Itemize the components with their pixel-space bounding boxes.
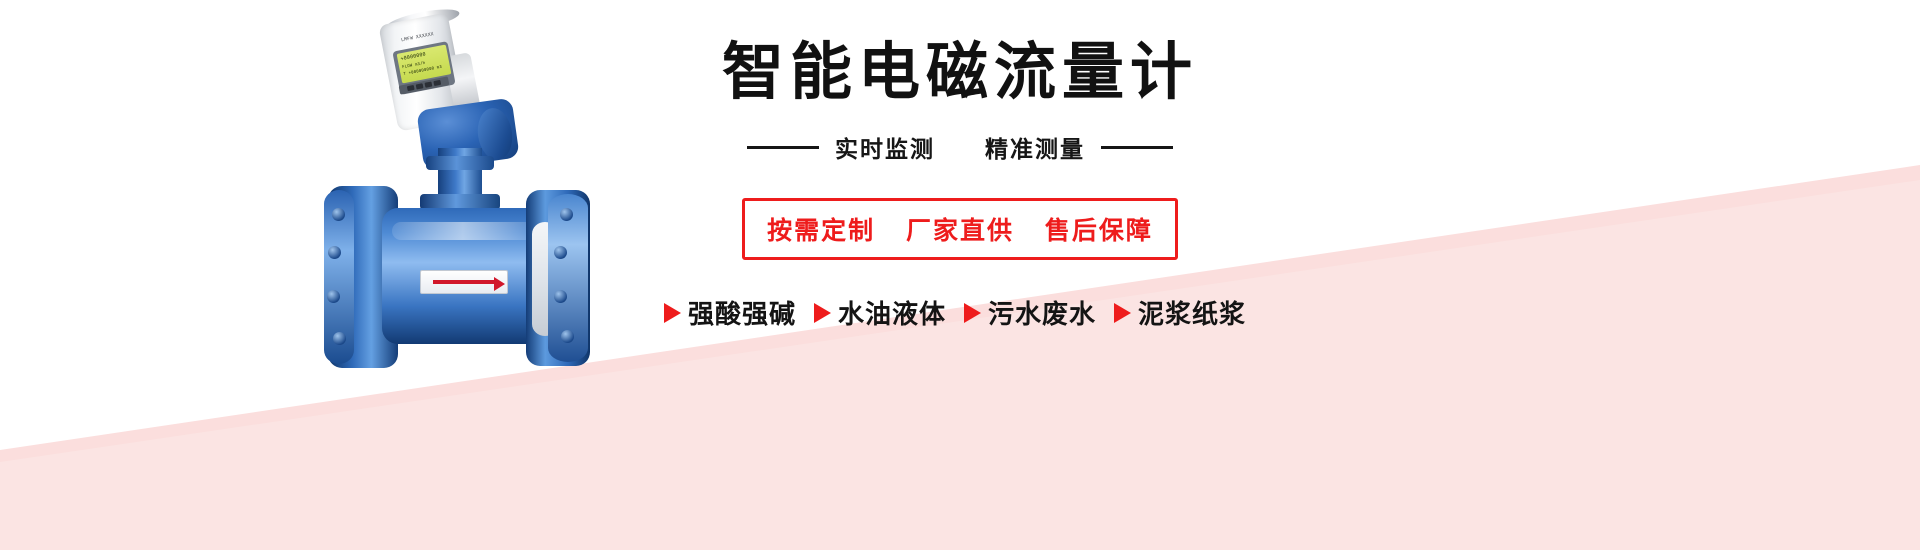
- feature-label: 强酸强碱: [688, 294, 796, 331]
- flange-bolt: [560, 208, 573, 221]
- banner-title: 智能电磁流量计: [722, 42, 1198, 104]
- flange-bolt: [327, 290, 340, 303]
- feature-label: 污水废水: [988, 294, 1096, 331]
- flange-bolt: [333, 332, 346, 345]
- triangle-right-icon: [664, 303, 681, 323]
- guarantee-item-2: 厂家直供: [906, 217, 1014, 245]
- feature-label: 水油液体: [838, 294, 946, 331]
- flange-bolt: [332, 208, 345, 221]
- triangle-right-icon: [964, 303, 981, 323]
- application-feature-row: 强酸强碱 水油液体 污水废水 泥浆纸浆: [664, 294, 1256, 331]
- flange-bolt: [554, 290, 567, 303]
- guarantee-item-1: 按需定制: [767, 217, 875, 245]
- feature-item: 水油液体: [814, 294, 946, 331]
- feature-item: 污水废水: [964, 294, 1096, 331]
- promo-banner: LMFW XXXXXX +0000000 FLOW m3/h T +000000…: [0, 0, 1920, 550]
- neck-flange-upper: [426, 156, 494, 170]
- feature-label: 泥浆纸浆: [1138, 294, 1246, 331]
- subtitle-rule-right: [1101, 146, 1173, 149]
- flange-bolt: [328, 246, 341, 259]
- pipe-flange-right-face: [548, 194, 588, 362]
- pipe-flange-left-face: [324, 190, 354, 364]
- banner-text-column: 智能电磁流量计 实时监测 精准测量 按需定制 厂家直供 售后保障 强酸强碱 水油…: [640, 0, 1280, 550]
- triangle-right-icon: [814, 303, 831, 323]
- guarantee-item-3: 售后保障: [1045, 217, 1153, 245]
- flange-bolt: [561, 330, 574, 343]
- product-image-flowmeter: LMFW XXXXXX +0000000 FLOW m3/h T +000000…: [300, 8, 630, 408]
- transmitter-button: [407, 85, 415, 91]
- banner-subtitle-left: 实时监测: [835, 130, 935, 164]
- feature-item: 泥浆纸浆: [1114, 294, 1246, 331]
- flow-direction-label: [420, 270, 508, 294]
- flange-bolt: [554, 246, 567, 259]
- sensor-body-highlight: [392, 222, 534, 240]
- flow-direction-arrow-icon: [433, 280, 495, 284]
- banner-subtitle-right: 精准测量: [985, 130, 1085, 164]
- triangle-right-icon: [1114, 303, 1131, 323]
- feature-item: 强酸强碱: [664, 294, 796, 331]
- guarantee-pill: 按需定制 厂家直供 售后保障: [742, 198, 1178, 260]
- transmitter-button: [433, 80, 441, 86]
- banner-subtitle-row: 实时监测 精准测量: [747, 130, 1173, 164]
- transmitter-button: [416, 83, 424, 89]
- subtitle-rule-left: [747, 146, 819, 149]
- transmitter-button: [425, 82, 433, 88]
